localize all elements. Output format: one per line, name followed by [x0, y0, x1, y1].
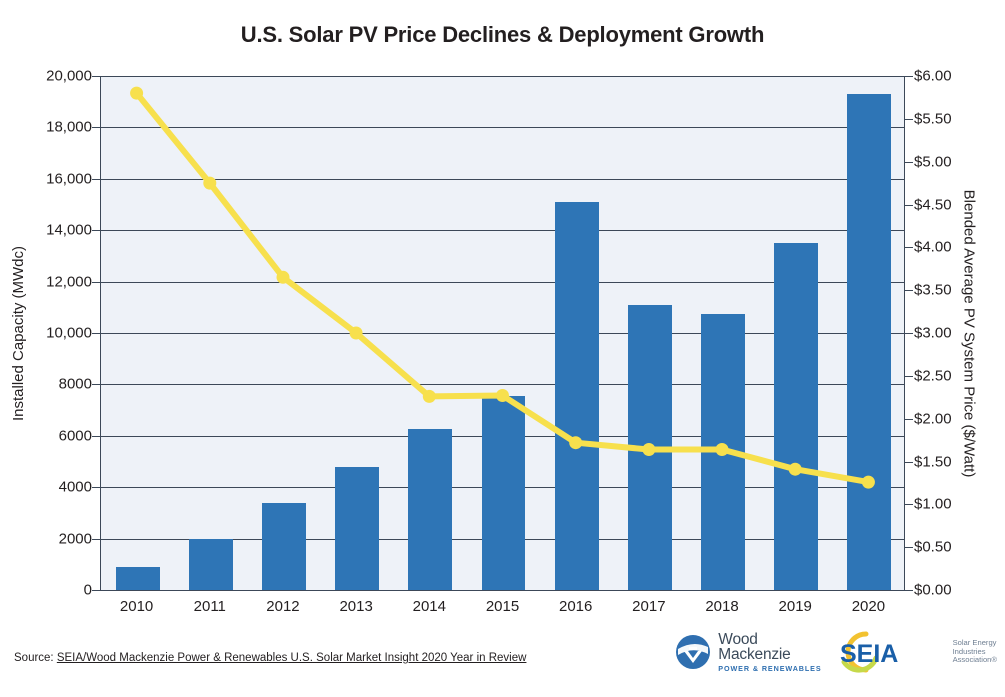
right-axis-tick-label: $1.00: [914, 496, 952, 513]
left-axis-tick-label: 4000: [59, 479, 92, 496]
chart-title: U.S. Solar PV Price Declines & Deploymen…: [0, 22, 1005, 48]
left-axis-tick-label: 0: [84, 582, 92, 599]
right-axis-tick-mark: [904, 76, 913, 77]
x-axis-tick-label: 2012: [266, 598, 299, 615]
logo-group: Wood Mackenzie POWER & RENEWABLES SEIA S…: [675, 628, 997, 676]
price-marker-2016: [569, 436, 582, 449]
right-axis-tick-label: $3.50: [914, 282, 952, 299]
left-axis-title-text: Installed Capacity (MWdc): [11, 245, 28, 420]
right-axis-tick-mark: [904, 547, 913, 548]
left-axis-tick-label: 2000: [59, 530, 92, 547]
x-axis-tick-label: 2013: [339, 598, 372, 615]
right-axis-tick-label: $0.50: [914, 539, 952, 556]
right-axis-tick-label: $5.50: [914, 110, 952, 127]
svg-text:SEIA: SEIA: [840, 640, 898, 668]
right-axis-tick-label: $0.00: [914, 582, 952, 599]
price-marker-2010: [130, 87, 143, 100]
left-axis-tick-label: 10,000: [46, 325, 92, 342]
x-axis-tick-label: 2016: [559, 598, 592, 615]
x-axis-tick-label: 2010: [120, 598, 153, 615]
price-marker-2018: [716, 443, 729, 456]
right-axis-title: Blended Average PV System Price ($/Watt): [958, 76, 980, 590]
left-axis-tick-label: 12,000: [46, 273, 92, 290]
wm-tagline: POWER & RENEWABLES: [718, 665, 821, 672]
price-marker-2014: [423, 390, 436, 403]
right-axis-tick-label: $6.00: [914, 68, 952, 85]
seia-subtitle: Solar Energy Industries Association®: [953, 639, 997, 665]
price-marker-2019: [789, 463, 802, 476]
wood-mackenzie-logo: Wood Mackenzie POWER & RENEWABLES: [675, 632, 821, 673]
x-axis-tick-label: 2015: [486, 598, 519, 615]
price-line-series: [100, 76, 905, 590]
right-axis-tick-mark: [904, 205, 913, 206]
chart-container: U.S. Solar PV Price Declines & Deploymen…: [0, 0, 1005, 697]
right-axis-tick-label: $5.00: [914, 153, 952, 170]
right-axis-tick-mark: [904, 462, 913, 463]
price-marker-2012: [277, 271, 290, 284]
left-axis-tick-label: 18,000: [46, 119, 92, 136]
right-axis-tick-label: $1.50: [914, 453, 952, 470]
wood-mackenzie-mark-icon: [675, 634, 711, 670]
left-axis-tick-label: 6000: [59, 427, 92, 444]
right-axis-tick-mark: [904, 376, 913, 377]
x-axis-tick-label: 2019: [779, 598, 812, 615]
wm-name-line1: Wood: [718, 632, 821, 648]
right-axis-tick-label: $4.50: [914, 196, 952, 213]
seia-line3: Association®: [953, 656, 997, 665]
right-axis-tick-label: $3.00: [914, 325, 952, 342]
right-axis-tick-label: $2.50: [914, 367, 952, 384]
right-axis-tick-mark: [904, 333, 913, 334]
price-line-path: [137, 93, 869, 482]
left-axis-tick-label: 20,000: [46, 68, 92, 85]
left-axis-title: Installed Capacity (MWdc): [8, 76, 30, 590]
x-axis-tick-label: 2018: [705, 598, 738, 615]
wm-name-line2: Mackenzie: [718, 647, 821, 663]
wood-mackenzie-wordmark: Wood Mackenzie POWER & RENEWABLES: [718, 632, 821, 673]
x-axis-tick-label: 2020: [852, 598, 885, 615]
x-axis-tick-label: 2011: [194, 598, 226, 615]
right-axis-title-text: Blended Average PV System Price ($/Watt): [961, 189, 978, 477]
price-marker-2013: [350, 327, 363, 340]
right-axis-tick-label: $2.00: [914, 410, 952, 427]
left-axis-tick-label: 14,000: [46, 222, 92, 239]
source-note: Source: SEIA/Wood Mackenzie Power & Rene…: [14, 652, 526, 664]
left-axis-tick-label: 8000: [59, 376, 92, 393]
x-axis-tick-label: 2017: [632, 598, 665, 615]
right-axis-tick-mark: [904, 504, 913, 505]
right-axis-tick-mark: [904, 247, 913, 248]
seia-logo: SEIA Solar Energy Industries Association…: [836, 628, 997, 676]
left-axis-tick-label: 16,000: [46, 170, 92, 187]
x-axis-baseline: [100, 590, 905, 591]
source-citation[interactable]: SEIA/Wood Mackenzie Power & Renewables U…: [57, 652, 527, 664]
source-prefix: Source:: [14, 652, 57, 664]
right-axis-tick-mark: [904, 162, 913, 163]
right-axis-tick-mark: [904, 119, 913, 120]
price-marker-2017: [642, 443, 655, 456]
right-axis-tick-label: $4.00: [914, 239, 952, 256]
price-marker-2015: [496, 389, 509, 402]
price-marker-2020: [862, 476, 875, 489]
right-axis-tick-mark: [904, 290, 913, 291]
seia-mark-icon: SEIA: [836, 628, 948, 676]
right-axis-tick-mark: [904, 590, 913, 591]
right-axis-tick-mark: [904, 419, 913, 420]
price-marker-2011: [203, 177, 216, 190]
x-axis-tick-label: 2014: [413, 598, 446, 615]
